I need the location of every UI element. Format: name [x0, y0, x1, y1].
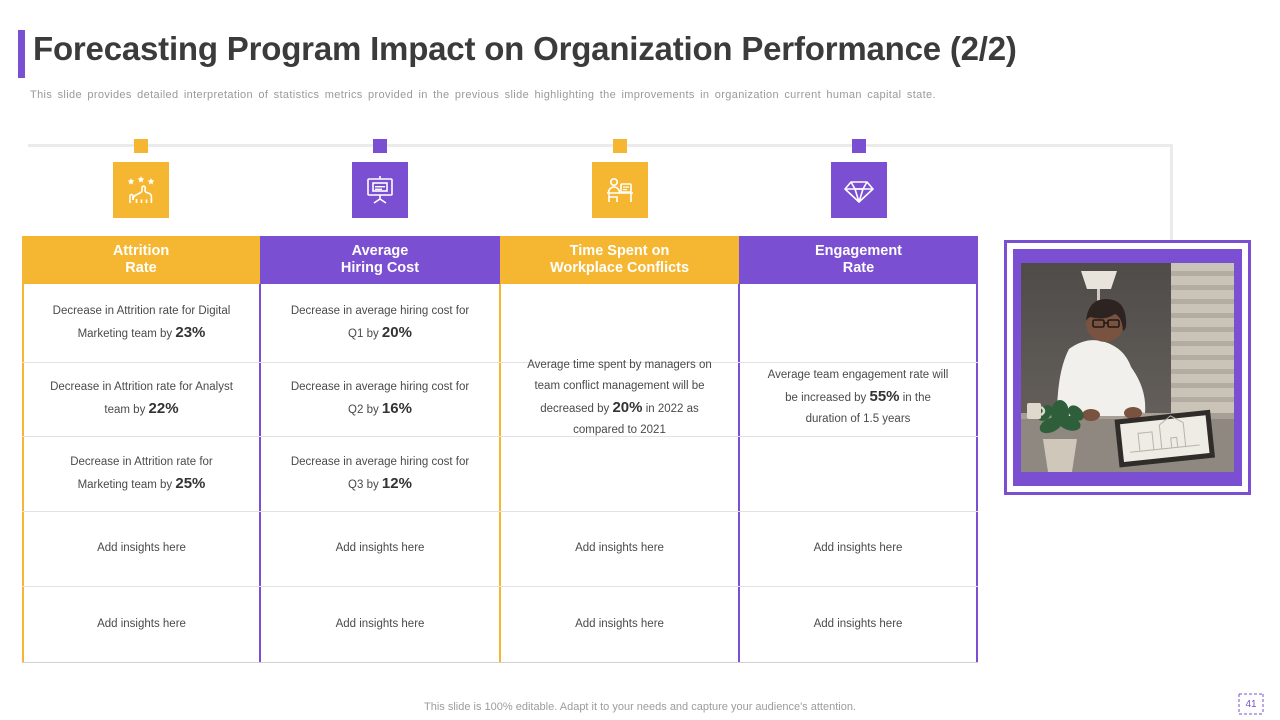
table-cell-c2r2: Decrease in average hiring cost for Q2 b…	[261, 362, 499, 436]
people-rating-icon	[113, 162, 169, 218]
header-line1: Attrition	[113, 243, 169, 260]
cell-line: Decrease in Attrition rate for Digital	[53, 301, 231, 322]
row-divider-bottom	[22, 662, 978, 663]
table-cell-c2r4: Add insights here	[261, 511, 499, 586]
table-cell-c1r4: Add insights here	[24, 511, 259, 586]
cell-line: decreased by	[540, 403, 612, 415]
diamond-icon	[831, 162, 887, 218]
header-line2: Workplace Conflicts	[550, 260, 689, 277]
table-cell-c4r4: Add insights here	[740, 511, 976, 586]
page-number: 41	[1236, 692, 1266, 716]
tick-marker-4	[852, 139, 866, 153]
table-cell-c3r5: Add insights here	[501, 586, 738, 662]
table-header-time-spent: Time Spent on Workplace Conflicts	[500, 236, 739, 284]
cell-line: duration of 1.5 years	[768, 409, 949, 430]
cell-value: 12%	[382, 475, 412, 492]
cell-line: Average time spent by managers on	[527, 355, 712, 376]
cell-line: be increased by	[785, 392, 869, 404]
cell-line: team conflict management will be	[527, 376, 712, 397]
header-line1: Engagement	[815, 243, 902, 260]
cell-line: compared to 2021	[527, 420, 712, 441]
table-cell-c3-merged: Average time spent by managers on team c…	[501, 284, 738, 511]
table-header-average-hiring-cost: Average Hiring Cost	[260, 236, 500, 284]
header-line1: Average	[341, 243, 419, 260]
cell-line: Q1 by	[348, 328, 382, 340]
cell-line: in 2022 as	[643, 403, 699, 415]
tick-marker-1	[134, 139, 148, 153]
header-line2: Rate	[113, 260, 169, 277]
cell-line: Q2 by	[348, 404, 382, 416]
table-cell-c2r3: Decrease in average hiring cost for Q3 b…	[261, 436, 499, 511]
header-line1: Time Spent on	[550, 243, 689, 260]
desk-worker-icon	[592, 162, 648, 218]
cell-line: Marketing team by	[78, 328, 176, 340]
table-cell-c1r3: Decrease in Attrition rate for Marketing…	[24, 436, 259, 511]
cell-line: Decrease in Attrition rate for	[70, 452, 213, 473]
presentation-board-icon	[352, 162, 408, 218]
page-title: Forecasting Program Impact on Organizati…	[33, 30, 1017, 68]
cell-value: 22%	[149, 400, 179, 417]
table-header-engagement-rate: Engagement Rate	[739, 236, 978, 284]
tick-marker-2	[373, 139, 387, 153]
cell-line: Marketing team by	[78, 479, 176, 491]
tick-marker-3	[613, 139, 627, 153]
cell-value: 16%	[382, 400, 412, 417]
header-line2: Hiring Cost	[341, 260, 419, 277]
cell-line: Average team engagement rate will	[768, 365, 949, 386]
cell-line: Decrease in average hiring cost for	[291, 377, 469, 398]
footer-note: This slide is 100% editable. Adapt it to…	[0, 701, 1280, 713]
table-cell-c2r5: Add insights here	[261, 586, 499, 662]
header-line2: Rate	[815, 260, 902, 277]
cell-line: Decrease in average hiring cost for	[291, 452, 469, 473]
table-header-attrition-rate: Attrition Rate	[22, 236, 260, 284]
cell-line: Q3 by	[348, 479, 382, 491]
cell-value: 23%	[175, 324, 205, 341]
cell-line: Decrease in average hiring cost for	[291, 301, 469, 322]
col-border-right	[976, 284, 978, 663]
slide-root: Forecasting Program Impact on Organizati…	[0, 0, 1280, 720]
cell-value: 25%	[175, 475, 205, 492]
table-cell-c1r2: Decrease in Attrition rate for Analyst t…	[24, 362, 259, 436]
connector-line-horizontal	[28, 144, 1173, 147]
photo-woman-at-desk	[1021, 263, 1234, 472]
cell-value: 20%	[612, 399, 642, 416]
page-subtitle: This slide provides detailed interpretat…	[30, 89, 1030, 101]
title-accent-bar	[18, 30, 25, 78]
table-cell-c1r1: Decrease in Attrition rate for Digital M…	[24, 284, 259, 362]
cell-line: Decrease in Attrition rate for Analyst	[50, 377, 233, 398]
cell-value: 55%	[870, 388, 900, 405]
table-cell-c3r4: Add insights here	[501, 511, 738, 586]
metrics-table: Attrition Rate Average Hiring Cost Time …	[22, 236, 978, 663]
table-cell-c1r5: Add insights here	[24, 586, 259, 662]
cell-line: team by	[104, 404, 148, 416]
table-cell-c4r5: Add insights here	[740, 586, 976, 662]
cell-line: in the	[900, 392, 931, 404]
table-cell-c4-merged: Average team engagement rate will be inc…	[740, 284, 976, 511]
table-cell-c2r1: Decrease in average hiring cost for Q1 b…	[261, 284, 499, 362]
cell-value: 20%	[382, 324, 412, 341]
